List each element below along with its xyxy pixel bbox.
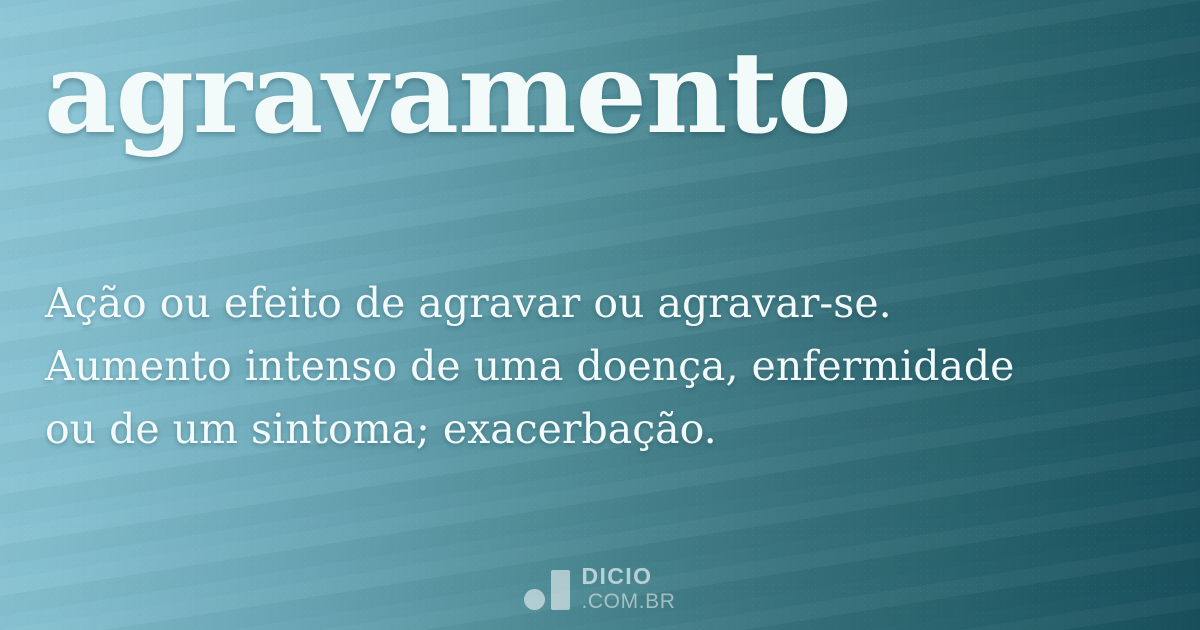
circle-mark-icon (524, 589, 545, 610)
card-content: agravamento Ação ou efeito de agravar ou… (0, 0, 1200, 630)
definition-line: ou de um sintoma; exacerbação. (45, 398, 1155, 461)
definition-line: Aumento intenso de uma doença, enfermida… (45, 335, 1155, 398)
definition-line: Ação ou efeito de agravar ou agravar-se. (45, 272, 1155, 335)
bar-mark-icon (551, 570, 570, 610)
logo-brand-name: DICIO (581, 565, 675, 588)
dicio-logo[interactable]: DICIO .COM.BR (0, 565, 1200, 612)
logo-mark (524, 568, 570, 610)
logo-wordmark: DICIO .COM.BR (581, 565, 675, 612)
logo-domain-suffix: .COM.BR (581, 591, 675, 612)
definition-block: Ação ou efeito de agravar ou agravar-se.… (45, 272, 1155, 461)
page-title: agravamento (44, 28, 851, 160)
share-card: agravamento Ação ou efeito de agravar ou… (0, 0, 1200, 630)
